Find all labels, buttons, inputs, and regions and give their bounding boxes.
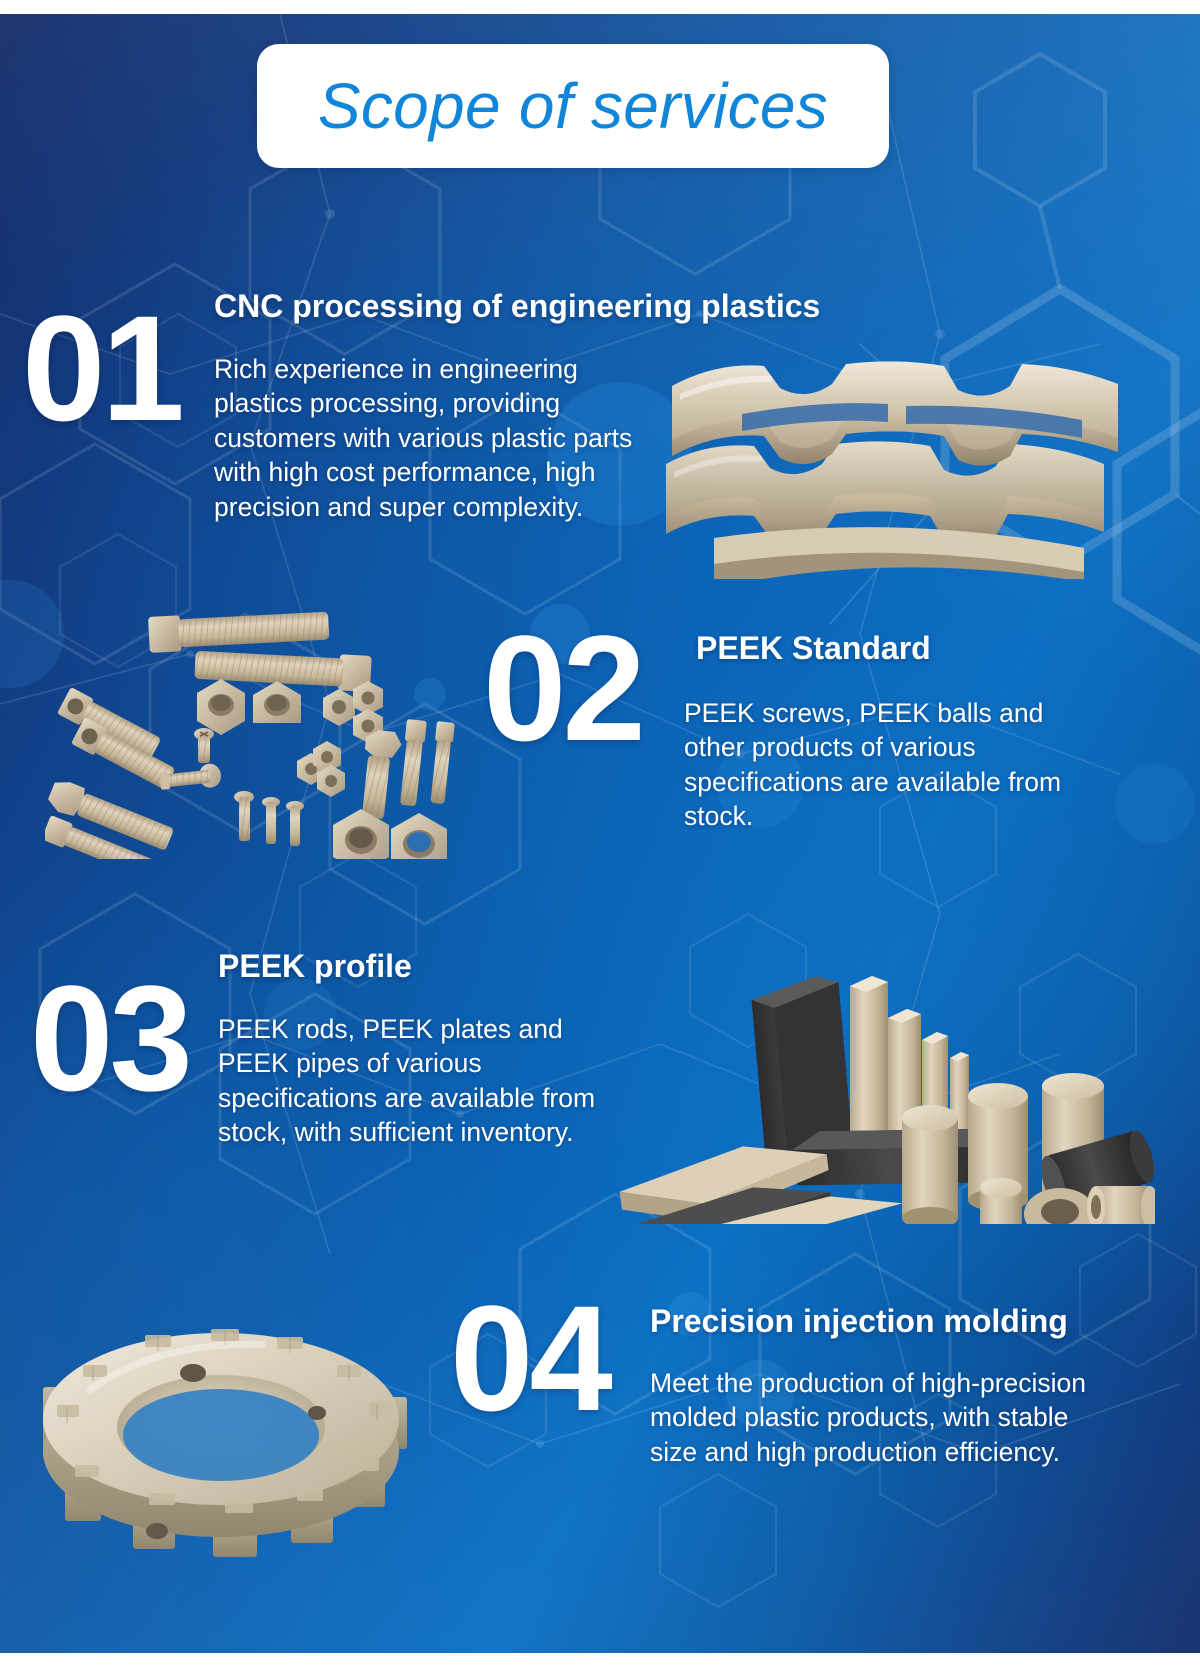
section-heading-03: PEEK profile (218, 949, 412, 985)
section-number-04: 04 (450, 1294, 609, 1423)
section-heading-01: CNC processing of engineering plastics (214, 289, 820, 325)
peek-molded-gear-ring-photo (25, 1269, 435, 1559)
section-body-01: Rich experience in engineering plastics … (214, 352, 644, 524)
section-body-02: PEEK screws, PEEK balls and other produc… (684, 696, 1104, 834)
bottom-white-band (0, 1653, 1200, 1675)
scope-of-services-poster: 01 CNC processing of engineering plastic… (0, 0, 1200, 1675)
peek-screws-nuts-bolts-photo (45, 569, 465, 859)
section-body-03: PEEK rods, PEEK plates and PEEK pipes of… (218, 1012, 613, 1150)
section-number-02: 02 (483, 624, 642, 753)
page-title: Scope of services (318, 74, 828, 138)
title-card: Scope of services (257, 44, 889, 168)
peek-rods-plates-tubes-photo (610, 904, 1155, 1224)
section-number-03: 03 (30, 974, 189, 1103)
section-heading-02: PEEK Standard (696, 631, 931, 667)
section-body-04: Meet the production of high-precision mo… (650, 1366, 1090, 1469)
top-white-band (0, 0, 1200, 14)
section-heading-04: Precision injection molding (650, 1304, 1068, 1340)
peek-machined-chain-guide-photo (660, 314, 1135, 579)
section-number-01: 01 (22, 304, 181, 433)
background-panel: 01 CNC processing of engineering plastic… (0, 14, 1200, 1653)
